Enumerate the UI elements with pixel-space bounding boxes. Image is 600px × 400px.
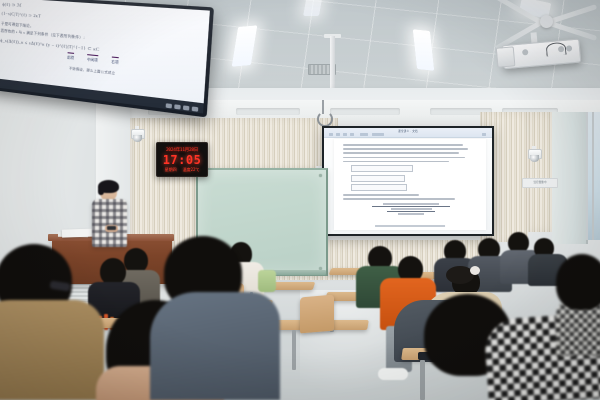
wall-panel-right-2	[528, 112, 552, 232]
lecturer-plaid-shirt	[92, 199, 127, 247]
wall-panel-mid	[198, 118, 316, 170]
document-fraction-block	[372, 203, 451, 215]
wall-slot-2	[236, 108, 300, 115]
tv-frac-label-2: 中间项	[87, 54, 98, 63]
lecturer	[88, 182, 130, 260]
clock-temperature: 温度22℃	[183, 167, 200, 173]
student-s7-sneaker	[378, 368, 408, 380]
document-page	[334, 139, 486, 230]
clock-weekday: 星期四	[165, 167, 177, 173]
document-ribbon: 课堂讲义 · 文档	[324, 128, 492, 138]
lecturer-hair-side	[98, 186, 104, 195]
classroom-photo: ϕ(ℓ) ⊃ ℳ (1−s)C|T|^(ℓ) ⊃ 2κT 于是可得如下结论。 若…	[0, 0, 600, 400]
clock-date: 2024年11月28日	[166, 147, 198, 153]
tv-frac-label-1: 前项	[67, 52, 74, 60]
chair-back-mid	[300, 295, 334, 334]
surveillance-notice-sign: 监控摄像中	[522, 178, 558, 188]
tv-frac-label-3: 右项	[111, 56, 119, 64]
clock-time: 17:05	[163, 154, 202, 166]
student-green-bag	[258, 270, 276, 292]
window-mullion	[592, 112, 594, 240]
dome-security-camera-left	[130, 126, 144, 143]
surveillance-notice-text: 监控摄像中	[523, 179, 557, 187]
student-s4-jacket	[150, 292, 280, 400]
clock-info-row: 星期四 温度22℃	[165, 167, 200, 173]
document-title: 课堂讲义 · 文档	[398, 129, 418, 133]
student-s1-tan-jacket	[0, 300, 104, 400]
screen-pull-hook[interactable]	[316, 100, 332, 126]
ceiling-projector-right	[501, 31, 579, 68]
led-clock: 2024年11月28日 17:05 星期四 温度22℃	[156, 142, 208, 177]
projection-screen[interactable]: 课堂讲义 · 文档	[322, 126, 494, 236]
dome-security-camera-right	[527, 146, 541, 163]
tv-statusbar-icons	[166, 103, 199, 112]
wall-slot-3	[330, 108, 400, 115]
lecturer-smartphone	[107, 226, 116, 230]
student-s8-hairtie	[470, 266, 480, 275]
projection-screen-surface: 课堂讲义 · 文档	[324, 128, 492, 234]
